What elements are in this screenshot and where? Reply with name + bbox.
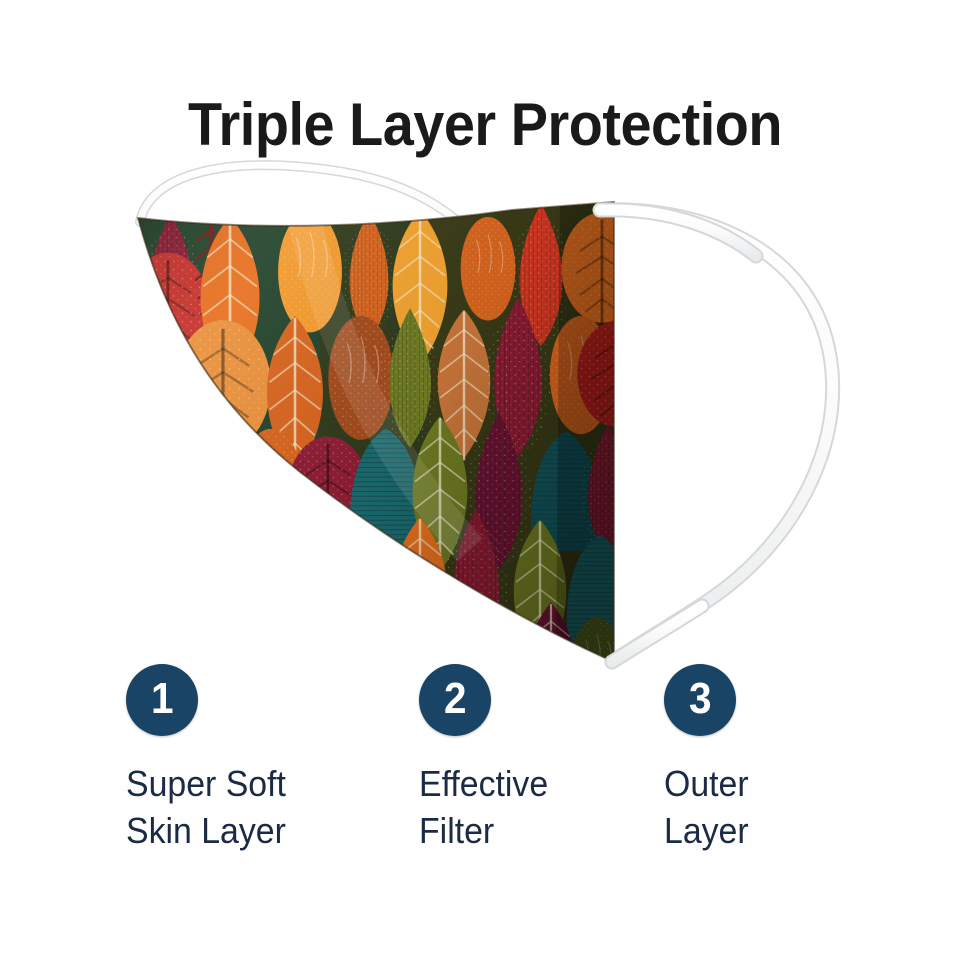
feature-badge-2: 2 xyxy=(419,664,491,736)
feature-badge-3: 3 xyxy=(664,664,736,736)
mask-body xyxy=(110,180,656,670)
right-ear-loop xyxy=(600,210,833,662)
product-image xyxy=(0,150,970,670)
feature-badge-1: 1 xyxy=(126,664,198,736)
feature-number-2: 2 xyxy=(444,677,467,721)
feature-label-3: Outer Layer xyxy=(664,760,899,854)
feature-list: 1 Super Soft Skin Layer 2 Effective Filt… xyxy=(0,664,970,894)
feature-number-1: 1 xyxy=(151,677,174,721)
face-mask-illustration xyxy=(0,150,970,670)
feature-item-2: 2 Effective Filter xyxy=(419,664,669,854)
feature-item-3: 3 Outer Layer xyxy=(664,664,914,854)
feature-label-1: Super Soft Skin Layer xyxy=(126,760,361,854)
feature-number-3: 3 xyxy=(689,677,712,721)
feature-label-2: Effective Filter xyxy=(419,760,654,854)
feature-item-1: 1 Super Soft Skin Layer xyxy=(126,664,376,854)
page-title: Triple Layer Protection xyxy=(34,92,936,158)
ear-loop-overlap xyxy=(600,210,756,662)
